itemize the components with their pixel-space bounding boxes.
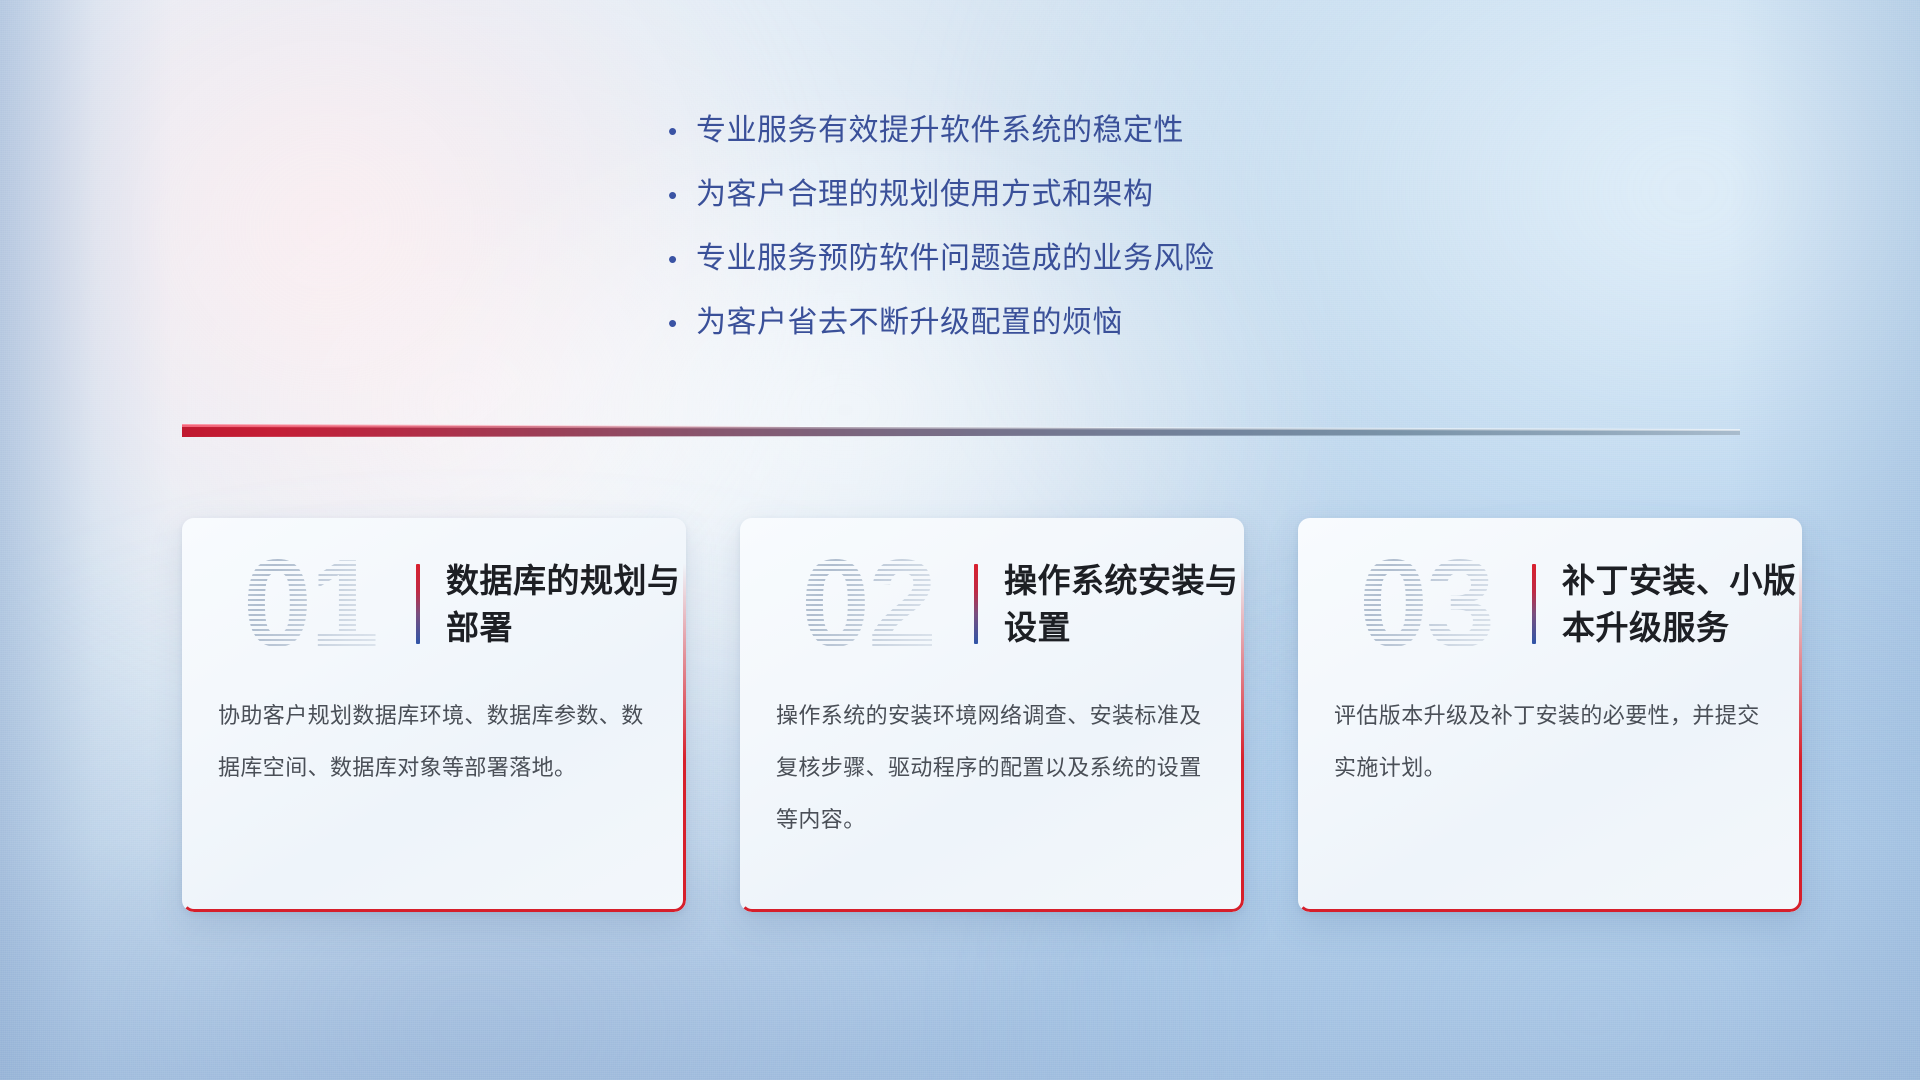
card-description: 操作系统的安装环境网络调查、安装标准及复核步骤、驱动程序的配置以及系统的设置等内… — [740, 690, 1244, 846]
card-header: 02 操作系统安装与设置 — [740, 518, 1244, 690]
card-divider-bar — [416, 564, 420, 644]
service-card-02[interactable]: 02 操作系统安装与设置 操作系统的安装环境网络调查、安装标准及复核步骤、驱动程… — [740, 518, 1244, 912]
service-card-01[interactable]: 01 数据库的规划与部署 协助客户规划数据库环境、数据库参数、数据库空间、数据库… — [182, 518, 686, 912]
card-divider-bar — [974, 564, 978, 644]
list-item: • 专业服务有效提升软件系统的稳定性 — [668, 110, 1428, 174]
bullet-text: 为客户合理的规划使用方式和架构 — [696, 174, 1154, 216]
card-number-watermark: 03 — [1324, 542, 1528, 666]
card-number-watermark: 01 — [208, 542, 412, 666]
card-header: 01 数据库的规划与部署 — [182, 518, 686, 690]
card-title: 数据库的规划与部署 — [446, 557, 686, 651]
list-item: • 为客户合理的规划使用方式和架构 — [668, 174, 1428, 238]
card-description: 评估版本升级及补丁安装的必要性，并提交实施计划。 — [1298, 690, 1802, 794]
service-card-03[interactable]: 03 补丁安装、小版本升级服务 评估版本升级及补丁安装的必要性，并提交实施计划。 — [1298, 518, 1802, 912]
bullet-text: 专业服务有效提升软件系统的稳定性 — [696, 110, 1184, 152]
list-item: • 专业服务预防软件问题造成的业务风险 — [668, 238, 1428, 302]
bullet-text: 专业服务预防软件问题造成的业务风险 — [696, 238, 1215, 280]
list-item: • 为客户省去不断升级配置的烦恼 — [668, 302, 1428, 366]
bullet-dot-icon: • — [668, 238, 696, 280]
service-card-group: 01 数据库的规划与部署 协助客户规划数据库环境、数据库参数、数据库空间、数据库… — [182, 518, 1802, 918]
bullet-dot-icon: • — [668, 174, 696, 216]
section-divider — [182, 424, 1740, 438]
bullet-dot-icon: • — [668, 302, 696, 344]
benefits-bullet-list: • 专业服务有效提升软件系统的稳定性 • 为客户合理的规划使用方式和架构 • 专… — [668, 110, 1428, 366]
bullet-text: 为客户省去不断升级配置的烦恼 — [696, 302, 1123, 344]
card-title: 操作系统安装与设置 — [1004, 557, 1244, 651]
card-divider-bar — [1532, 564, 1536, 644]
card-title: 补丁安装、小版本升级服务 — [1562, 557, 1802, 651]
bullet-dot-icon: • — [668, 110, 696, 152]
card-number-watermark: 02 — [766, 542, 970, 666]
card-description: 协助客户规划数据库环境、数据库参数、数据库空间、数据库对象等部署落地。 — [182, 690, 686, 794]
card-header: 03 补丁安装、小版本升级服务 — [1298, 518, 1802, 690]
